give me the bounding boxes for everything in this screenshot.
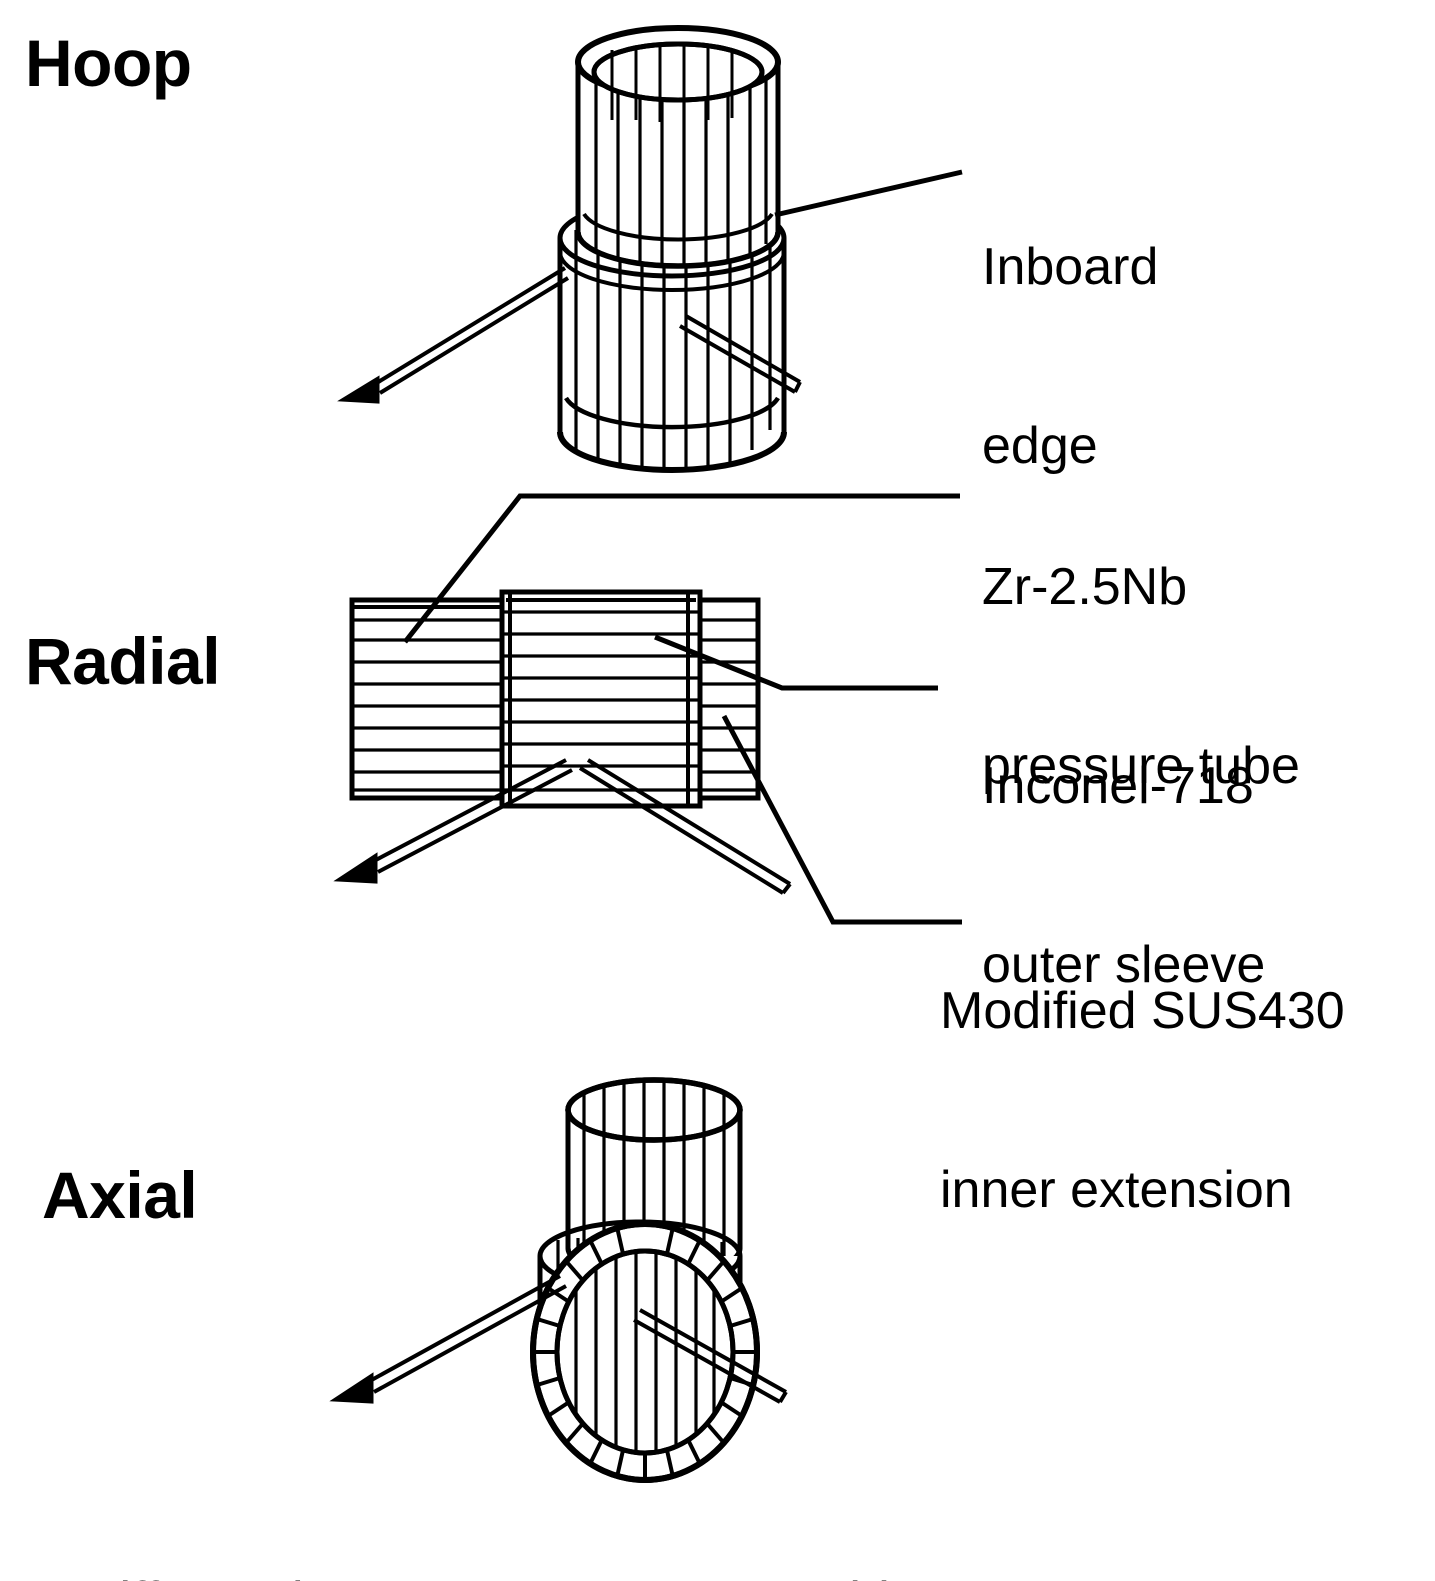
callout-inboard-edge-line1: Inboard — [982, 238, 1158, 298]
hoop-upper-barrel — [578, 28, 778, 268]
radial-left-segment — [348, 600, 506, 798]
orientation-label-radial: Radial — [25, 628, 220, 694]
beam-label-diffracted: Diffracted neutron beam — [82, 1452, 403, 1581]
axial-end-face — [533, 1224, 757, 1482]
callout-sus430-inner-extension-line2: inner extension — [940, 1161, 1345, 1221]
beam-label-diffracted-line1: Diffracted — [82, 1572, 403, 1581]
hoop-diffracted-beam — [342, 268, 568, 402]
axial-specimen — [334, 1080, 786, 1482]
radial-middle-segment — [498, 592, 706, 806]
beam-label-incident-line1: Incident — [780, 1572, 1101, 1581]
callout-sus430-inner-extension-line1: Modified SUS430 — [940, 982, 1345, 1042]
beam-label-incident: Incident neutron beam — [780, 1452, 1101, 1581]
leader-inboard-edge — [775, 172, 962, 215]
orientation-label-hoop: Hoop — [25, 30, 192, 96]
arrowhead-axial — [334, 1375, 372, 1402]
arrowhead-hoop — [342, 378, 378, 402]
hoop-specimen — [342, 28, 800, 476]
arrowhead-radial — [338, 855, 376, 882]
figure-canvas: Hoop Radial Axial Inboard edge Zr-2.5Nb … — [0, 0, 1435, 1581]
orientation-label-axial: Axial — [42, 1162, 197, 1228]
callout-zr-pressure-tube-line1: Zr-2.5Nb — [982, 558, 1300, 618]
callout-inconel-outer-sleeve-line1: Inconel-718 — [982, 757, 1265, 817]
callout-sus430-inner-extension: Modified SUS430 inner extension — [940, 862, 1345, 1340]
